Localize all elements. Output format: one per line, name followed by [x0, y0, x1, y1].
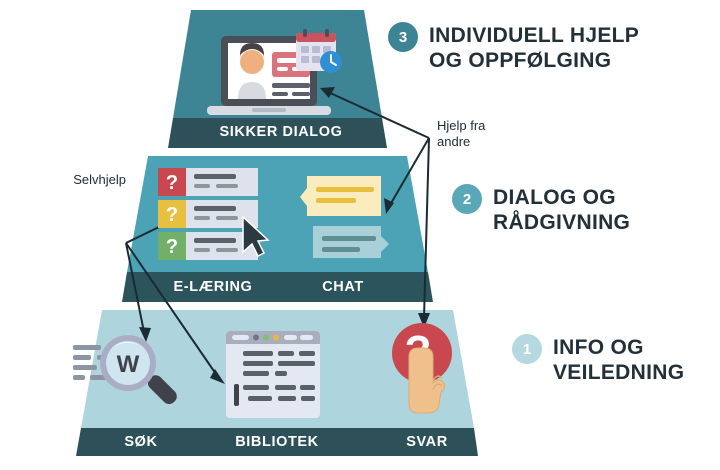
- svg-text:?: ?: [166, 172, 178, 194]
- level-1-title: INFO OG VEILEDNING: [553, 334, 684, 386]
- band-label-svar: SVAR: [382, 434, 472, 450]
- band-label-e-laering: E-LÆRING: [148, 279, 278, 295]
- level-1-badge: 1: [512, 334, 542, 364]
- level-2-title: DIALOG OG RÅDGIVNING: [493, 184, 630, 236]
- callout-hjelp-fra-andre: Hjelp fra andre: [437, 118, 517, 150]
- svg-text:W: W: [117, 351, 140, 378]
- level-1-block: 1 INFO OG VEILEDNING: [512, 334, 684, 386]
- level-2-badge: 2: [452, 184, 482, 214]
- band-label-sikker-dialog: SIKKER DIALOG: [206, 124, 356, 140]
- level-3-badge: 3: [388, 22, 418, 52]
- browser-document-icon: [226, 331, 320, 418]
- callout-selvhjelp: Selvhjelp: [44, 172, 126, 188]
- band-label-sok: SØK: [96, 434, 186, 450]
- band-label-chat: CHAT: [296, 279, 390, 295]
- svg-text:?: ?: [166, 236, 178, 258]
- level-3-title: INDIVIDUELL HJELP OG OPPFØLGING: [429, 22, 639, 74]
- level-3-block: 3 INDIVIDUELL HJELP OG OPPFØLGING: [388, 22, 639, 74]
- pyramid-infographic: ? ? ?: [0, 0, 720, 470]
- band-label-bibliotek: BIBLIOTEK: [216, 434, 338, 450]
- level-2-block: 2 DIALOG OG RÅDGIVNING: [452, 184, 630, 236]
- svg-text:?: ?: [166, 204, 178, 226]
- calendar-clock-icon: [296, 29, 342, 73]
